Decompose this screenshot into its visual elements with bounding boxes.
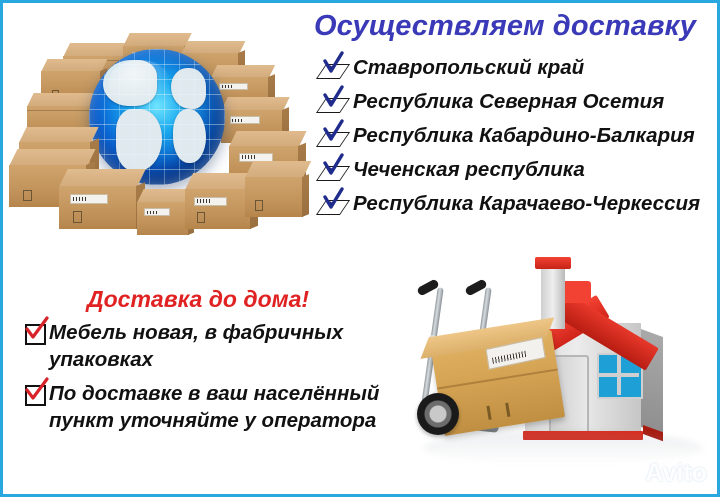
globe-and-boxes-illustration xyxy=(5,21,305,253)
avito-dots-icon xyxy=(616,462,642,484)
list-item-label: По доставке в ваш населённый пункт уточн… xyxy=(49,380,403,435)
avito-wordmark: Avito xyxy=(645,461,707,486)
wheel-icon xyxy=(417,393,459,435)
list-item-label: Мебель новая, в фабричных упаковках xyxy=(49,319,403,374)
list-item-label: Ставропольский край xyxy=(353,58,584,79)
list-item-label: Чеченская республика xyxy=(353,160,585,181)
hand-truck-icon xyxy=(403,287,541,445)
list-item: По доставке в ваш населённый пункт уточн… xyxy=(23,380,403,435)
parcel-box xyxy=(137,189,189,235)
list-item-label: Республика Карачаево-Черкессия xyxy=(353,194,700,215)
blue-check-icon xyxy=(319,89,349,115)
section-subheading: Доставка до дома! xyxy=(87,286,309,313)
blue-check-icon xyxy=(319,55,349,81)
avito-watermark: Avito xyxy=(616,458,707,488)
globe-icon xyxy=(89,49,225,185)
parcel-box xyxy=(185,173,251,229)
blue-check-icon xyxy=(319,157,349,183)
top-section: Осуществляем доставку Ставропольский кра… xyxy=(3,3,717,255)
list-item-label: Республика Северная Осетия xyxy=(353,92,664,113)
red-check-icon xyxy=(23,382,47,406)
house-and-hand-truck-illustration xyxy=(403,235,717,483)
list-item: Чеченская республика xyxy=(319,153,717,187)
delivery-promises-list: Мебель новая, в фабричных упаковках По д… xyxy=(23,319,403,440)
list-item: Ставропольский край xyxy=(319,51,717,85)
parcel-box xyxy=(59,169,137,229)
list-item: Мебель новая, в фабричных упаковках xyxy=(23,319,403,374)
list-item: Республика Карачаево-Черкессия xyxy=(319,187,717,221)
list-item: Республика Кабардино-Балкария xyxy=(319,119,717,153)
list-item-label: Республика Кабардино-Балкария xyxy=(353,126,695,147)
blue-check-icon xyxy=(319,191,349,217)
blue-check-icon xyxy=(319,123,349,149)
red-check-icon xyxy=(23,321,47,345)
delivery-regions-list: Ставропольский край Республика Северная … xyxy=(319,51,717,221)
page-title: Осуществляем доставку xyxy=(314,10,696,43)
delivery-advertisement-banner: Осуществляем доставку Ставропольский кра… xyxy=(0,0,720,497)
parcel-box xyxy=(245,161,303,217)
list-item: Республика Северная Осетия xyxy=(319,85,717,119)
